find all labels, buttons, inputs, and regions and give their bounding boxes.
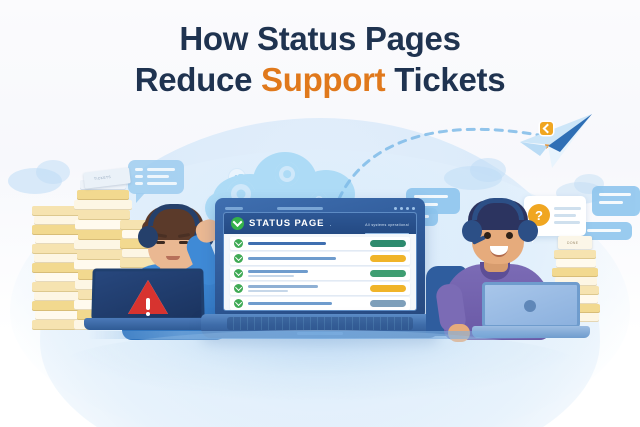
status-badge <box>370 300 406 307</box>
status-page-laptop[interactable]: STATUS PAGE . All systems operational <box>215 198 425 338</box>
check-icon <box>234 299 243 308</box>
laptop-logo <box>524 300 536 312</box>
table-row[interactable] <box>230 252 410 265</box>
warning-exclaim-bar <box>146 298 150 310</box>
check-circle-icon <box>231 217 244 230</box>
status-badge <box>370 285 406 292</box>
paper-plane-icon <box>518 112 594 170</box>
illustration-canvas: ? <box>0 0 640 427</box>
check-icon <box>234 254 243 263</box>
headline-plain-b: Tickets <box>385 61 505 98</box>
table-row[interactable] <box>230 267 410 280</box>
warning-exclaim-dot <box>146 312 150 316</box>
status-badge <box>370 240 406 247</box>
left-laptop <box>84 268 210 332</box>
status-page-header: STATUS PAGE . All systems operational <box>224 213 416 234</box>
chat-bubble-right-c <box>592 186 640 216</box>
status-page-screen[interactable]: STATUS PAGE . All systems operational <box>223 212 417 311</box>
keyboard <box>227 317 413 330</box>
table-row[interactable] <box>230 282 410 295</box>
status-page-meta: All systems operational <box>365 213 409 235</box>
gear-icon <box>275 162 299 186</box>
headline-line-2: Reduce Support Tickets <box>0 63 640 98</box>
table-row[interactable] <box>230 297 410 310</box>
status-page-title: STATUS PAGE <box>249 218 324 229</box>
headline-line-1: How Status Pages <box>0 22 640 57</box>
status-row-list <box>224 234 416 310</box>
check-icon <box>234 239 243 248</box>
status-badge <box>370 255 406 262</box>
header-dot: . <box>329 219 331 228</box>
status-badge <box>370 270 406 277</box>
check-icon <box>234 284 243 293</box>
browser-top-bar <box>223 205 417 212</box>
page-title: How Status Pages Reduce Support Tickets <box>0 22 640 98</box>
headline-accent: Support <box>261 61 385 98</box>
floor-shadow <box>60 330 580 400</box>
floor-line <box>88 331 552 339</box>
check-icon <box>234 269 243 278</box>
headline-plain-a: Reduce <box>135 61 261 98</box>
table-row[interactable] <box>230 237 410 250</box>
